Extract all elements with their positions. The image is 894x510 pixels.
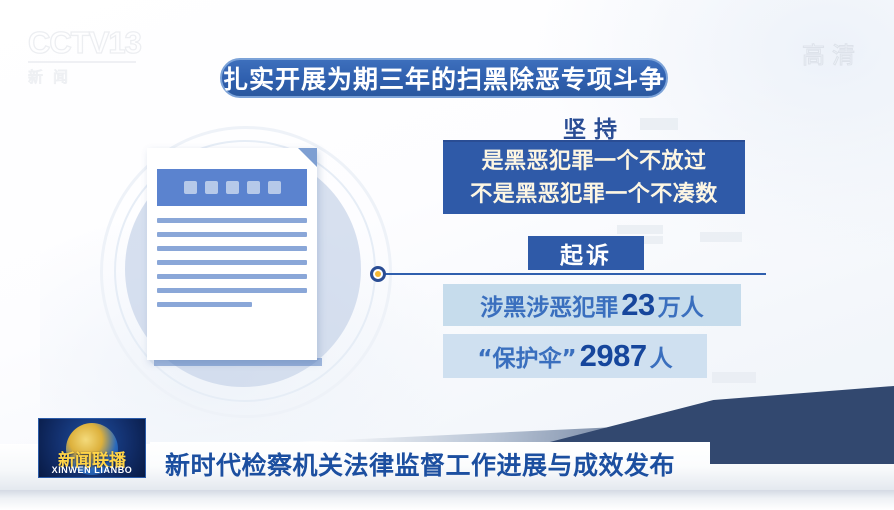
header-square-icon: [226, 181, 239, 194]
stat-row-gang-crime: 涉黑涉恶犯罪 23 万人: [443, 284, 741, 326]
stat-prefix: “保护伞”: [477, 339, 576, 373]
document-illustration: [92, 120, 392, 420]
program-name-en: XINWEN LIANBO: [39, 465, 145, 475]
prosecution-label-text: 起诉: [560, 236, 612, 270]
lower-third-banner: 新时代检察机关法律监督工作进展与成效发布 新闻联播 XINWEN LIANBO: [0, 414, 894, 510]
stat-value: 23: [618, 287, 657, 323]
connector-dot-center: [375, 271, 381, 277]
stat-row-protective-umbrella: “保护伞” 2987 人: [443, 334, 707, 378]
stat-prefix: 涉黑涉恶犯罪: [480, 288, 618, 322]
stat-suffix: 人: [650, 339, 673, 373]
header-square-icon: [247, 181, 260, 194]
header-square-icon: [205, 181, 218, 194]
cctv-logo-text: CCTV13: [28, 26, 160, 60]
cctv-channel-logo: CCTV13 新闻: [28, 26, 160, 88]
principle-line-2: 不是黑恶犯罪一个不凑数: [470, 178, 718, 211]
principle-line-1: 是黑恶犯罪一个不放过: [481, 145, 706, 178]
stat-suffix: 万人: [658, 288, 704, 322]
page-header-bar: [157, 169, 307, 206]
headline-banner: 扎实开展为期三年的扫黑除恶专项斗争: [220, 58, 668, 98]
page-fold-corner-icon: [298, 148, 317, 167]
stat-value: 2987: [577, 338, 650, 374]
connector-dot-icon: [370, 266, 386, 282]
page-line: [157, 218, 307, 223]
header-square-icon: [268, 181, 281, 194]
document-page-icon: [147, 148, 317, 360]
headline-text: 扎实开展为期三年的扫黑除恶专项斗争: [223, 60, 665, 96]
ghost-box-4: [700, 232, 742, 242]
ghost-box-2: [617, 225, 663, 234]
xinwen-lianbo-logo: 新闻联播 XINWEN LIANBO: [38, 418, 146, 478]
connector-line: [383, 273, 766, 275]
header-square-icon: [184, 181, 197, 194]
lower-third-title: 新时代检察机关法律监督工作进展与成效发布: [165, 446, 675, 482]
page-line: [157, 274, 307, 279]
principle-heading: 坚持: [443, 110, 745, 144]
page-text-lines: [157, 218, 307, 316]
cctv-logo-subtitle: 新闻: [28, 66, 160, 87]
prosecution-label: 起诉: [528, 236, 644, 270]
lower-third-base-strip: [0, 490, 894, 510]
page-line: [157, 288, 307, 293]
ghost-box-5: [712, 372, 756, 383]
page-line: [157, 260, 307, 265]
page-line: [157, 302, 252, 307]
principle-statement-block: 是黑恶犯罪一个不放过 不是黑恶犯罪一个不凑数: [443, 142, 745, 214]
hd-watermark: 高清: [802, 36, 862, 70]
page-line: [157, 246, 307, 251]
broadcast-screen: CCTV13 新闻 高清 扎实开展为期三年的扫黑除恶专项斗争: [0, 0, 894, 510]
page-line: [157, 232, 307, 237]
cctv-logo-rule: [28, 61, 136, 63]
